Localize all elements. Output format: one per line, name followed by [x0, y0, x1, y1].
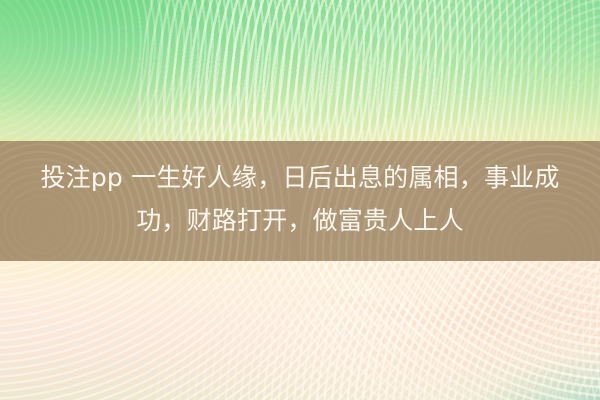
headline-text: 投注pp 一生好人缘，日后出息的属相，事业成功，财路打开，做富贵人上人	[0, 141, 600, 242]
poster-canvas: 投注pp 一生好人缘，日后出息的属相，事业成功，财路打开，做富贵人上人	[0, 0, 600, 400]
headline-banner: 投注pp 一生好人缘，日后出息的属相，事业成功，财路打开，做富贵人上人	[0, 141, 600, 261]
